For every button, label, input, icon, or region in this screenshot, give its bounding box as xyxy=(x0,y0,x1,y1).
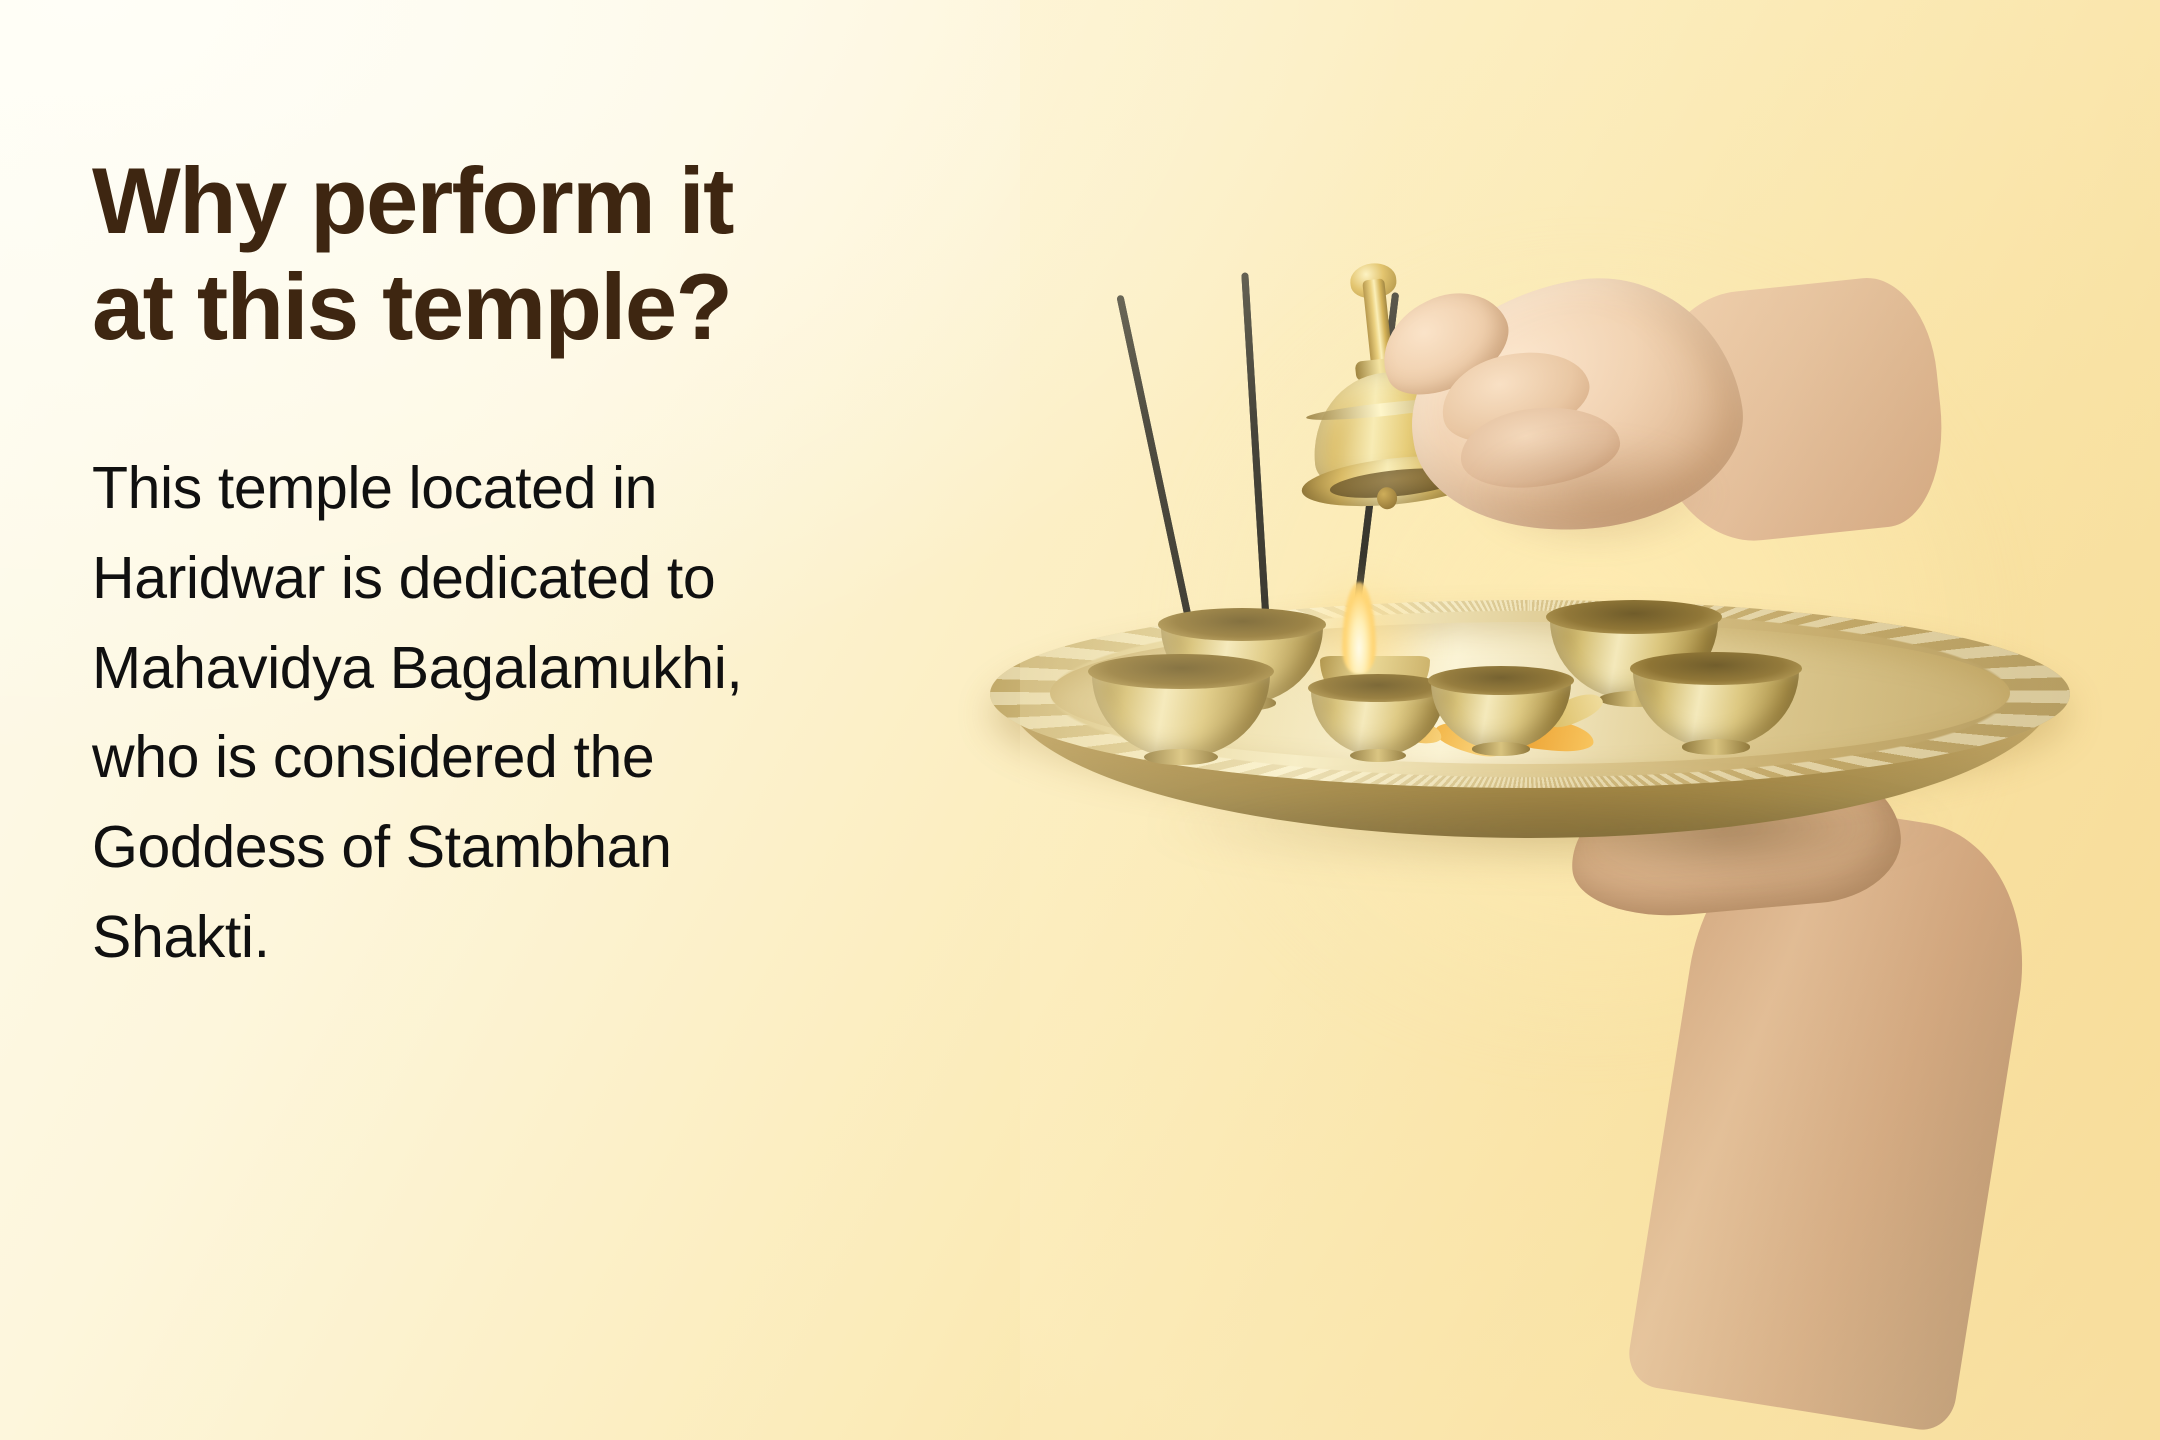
katori-bowl xyxy=(1428,666,1574,750)
bowl-foot xyxy=(1350,749,1406,762)
promo-slide: Why perform it at this temple? This temp… xyxy=(0,0,2160,1440)
puja-photo xyxy=(1020,0,2160,1440)
headline-line-1: Why perform it xyxy=(92,148,1042,254)
bowl-opening xyxy=(1308,674,1448,702)
body-line-3: Mahavidya Bagalamukhi, xyxy=(92,624,1042,714)
bowl-foot xyxy=(1144,749,1218,766)
bowl-opening xyxy=(1546,600,1722,634)
bowl-opening xyxy=(1088,654,1274,689)
bowl-opening xyxy=(1158,608,1326,641)
bowl-foot xyxy=(1472,742,1530,755)
bowl-foot xyxy=(1682,739,1751,754)
body-paragraph: This temple located in Haridwar is dedic… xyxy=(92,360,1042,982)
bowl-opening xyxy=(1428,666,1574,695)
upper-hand-shading xyxy=(1470,434,1720,554)
text-column: Why perform it at this temple? This temp… xyxy=(92,148,1042,982)
headline-line-2: at this temple? xyxy=(92,254,1042,360)
brass-thali xyxy=(990,570,2070,900)
katori-bowl xyxy=(1088,654,1274,758)
body-line-1: This temple located in xyxy=(92,444,1042,534)
katori-bowl xyxy=(1630,652,1802,748)
body-line-6: Shakti. xyxy=(92,893,1042,983)
body-line-2: Haridwar is dedicated to xyxy=(92,534,1042,624)
katori-bowl xyxy=(1308,674,1448,756)
page-title: Why perform it at this temple? xyxy=(92,148,1042,360)
thali-drop-shadow xyxy=(1140,782,1960,872)
bowl-opening xyxy=(1630,652,1802,685)
body-line-4: who is considered the xyxy=(92,713,1042,803)
body-line-5: Goddess of Stambhan xyxy=(92,803,1042,893)
